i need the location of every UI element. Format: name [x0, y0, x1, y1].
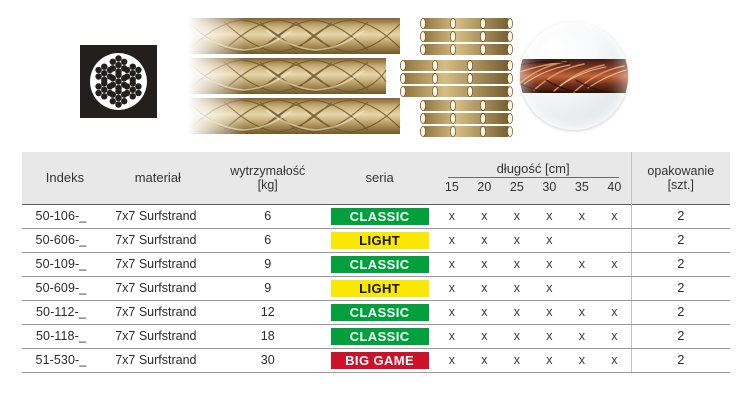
length-mark-30: x — [533, 329, 566, 343]
length-mark-40: x — [598, 257, 631, 271]
header-length-ticks: 15 20 25 30 35 40 — [436, 180, 631, 194]
length-mark-30: x — [533, 233, 566, 247]
cell-seria: CLASSIC — [324, 300, 436, 324]
hero-imagery — [0, 0, 750, 150]
series-badge: CLASSIC — [331, 304, 429, 321]
table-header-row: Indeks materiał wytrzymałość [kg] seria … — [22, 152, 730, 204]
cell-material: 7x7 Surfstrand — [100, 324, 212, 348]
table-row: 50-112-_ 7x7 Surfstrand 12 CLASSIC x x x… — [22, 300, 730, 324]
length-mark-20: x — [468, 305, 501, 319]
product-spec-sheet: Indeks materiał wytrzymałość [kg] seria … — [0, 0, 750, 403]
cell-opakowanie: 2 — [631, 300, 730, 324]
cell-wytrzymalosc: 30 — [212, 348, 324, 372]
length-mark-15: x — [436, 329, 469, 343]
length-mark-40: x — [598, 305, 631, 319]
table-row: 51-530-_ 7x7 Surfstrand 30 BIG GAME x x … — [22, 348, 730, 372]
header-indeks: Indeks — [22, 152, 100, 204]
cell-seria: LIGHT — [324, 228, 436, 252]
table-row: 50-109-_ 7x7 Surfstrand 9 CLASSIC x x x … — [22, 252, 730, 276]
length-mark-30: x — [533, 305, 566, 319]
header-material: materiał — [100, 152, 212, 204]
length-mark-15: x — [436, 305, 469, 319]
cell-indeks: 50-112-_ — [22, 300, 100, 324]
length-mark-30: x — [533, 209, 566, 223]
series-badge: CLASSIC — [331, 328, 429, 345]
table-header: Indeks materiał wytrzymałość [kg] seria … — [22, 152, 730, 204]
length-mark-35: x — [566, 209, 599, 223]
cell-lengths: x x x x — [436, 228, 632, 252]
series-badge: BIG GAME — [331, 352, 429, 369]
length-mark-35: x — [566, 305, 599, 319]
wire-cross-section-7x7-icon — [80, 45, 157, 118]
length-mark-15: x — [436, 281, 469, 295]
table-row: 50-106-_ 7x7 Surfstrand 6 CLASSIC x x x … — [22, 204, 730, 228]
magnified-rope-detail-lens — [520, 22, 628, 130]
length-mark-40: x — [598, 329, 631, 343]
cell-opakowanie: 2 — [631, 204, 730, 228]
cell-indeks: 50-109-_ — [22, 252, 100, 276]
cell-lengths: x x x x x x — [436, 324, 632, 348]
header-length-30: 30 — [533, 180, 566, 194]
length-mark-35: x — [566, 329, 599, 343]
length-mark-15: x — [436, 233, 469, 247]
cell-indeks: 50-106-_ — [22, 204, 100, 228]
length-mark-30: x — [533, 353, 566, 367]
series-badge: LIGHT — [331, 232, 429, 249]
length-mark-25: x — [501, 329, 534, 343]
length-mark-15: x — [436, 209, 469, 223]
length-mark-20: x — [468, 257, 501, 271]
cell-lengths: x x x x x x — [436, 252, 632, 276]
cell-lengths: x x x x x x — [436, 204, 632, 228]
length-mark-40 — [598, 281, 631, 295]
cell-lengths: x x x x x x — [436, 348, 632, 372]
cell-opakowanie: 2 — [631, 252, 730, 276]
table-body: 50-106-_ 7x7 Surfstrand 6 CLASSIC x x x … — [22, 204, 730, 372]
header-dlugosc-rule — [448, 177, 619, 178]
header-dlugosc-title: długość [cm] — [436, 162, 631, 177]
length-mark-30: x — [533, 257, 566, 271]
cell-seria: LIGHT — [324, 276, 436, 300]
length-mark-15: x — [436, 257, 469, 271]
cell-opakowanie: 2 — [631, 324, 730, 348]
length-mark-35 — [566, 281, 599, 295]
header-length-25: 25 — [501, 180, 534, 194]
header-seria: seria — [324, 152, 436, 204]
length-mark-35: x — [566, 257, 599, 271]
length-mark-25: x — [501, 281, 534, 295]
cell-indeks: 51-530-_ — [22, 348, 100, 372]
length-mark-20: x — [468, 329, 501, 343]
header-opakowanie-line1: opakowanie — [632, 164, 730, 178]
length-mark-20: x — [468, 209, 501, 223]
cell-indeks: 50-609-_ — [22, 276, 100, 300]
length-mark-35: x — [566, 353, 599, 367]
header-length-20: 20 — [468, 180, 501, 194]
cell-material: 7x7 Surfstrand — [100, 204, 212, 228]
header-opakowanie: opakowanie [szt.] — [631, 152, 730, 204]
cell-seria: BIG GAME — [324, 348, 436, 372]
header-length-35: 35 — [566, 180, 599, 194]
length-mark-25: x — [501, 209, 534, 223]
braided-steel-rope-illustration — [188, 8, 518, 146]
length-mark-15: x — [436, 353, 469, 367]
cell-seria: CLASSIC — [324, 204, 436, 228]
cell-wytrzymalosc: 9 — [212, 276, 324, 300]
cell-wytrzymalosc: 6 — [212, 228, 324, 252]
cell-lengths: x x x x — [436, 276, 632, 300]
header-wytrzymalosc-line1: wytrzymałość — [212, 164, 324, 178]
cell-wytrzymalosc: 18 — [212, 324, 324, 348]
length-mark-25: x — [501, 305, 534, 319]
header-opakowanie-line2: [szt.] — [632, 178, 730, 192]
length-mark-40: x — [598, 353, 631, 367]
length-mark-25: x — [501, 233, 534, 247]
cell-wytrzymalosc: 9 — [212, 252, 324, 276]
cell-wytrzymalosc: 12 — [212, 300, 324, 324]
length-mark-25: x — [501, 257, 534, 271]
length-mark-20: x — [468, 233, 501, 247]
specification-table: Indeks materiał wytrzymałość [kg] seria … — [22, 152, 730, 373]
specification-table-wrapper: Indeks materiał wytrzymałość [kg] seria … — [22, 152, 730, 373]
cell-indeks: 50-118-_ — [22, 324, 100, 348]
table-row: 50-118-_ 7x7 Surfstrand 18 CLASSIC x x x… — [22, 324, 730, 348]
cell-indeks: 50-606-_ — [22, 228, 100, 252]
length-mark-30: x — [533, 281, 566, 295]
header-length-15: 15 — [436, 180, 469, 194]
length-mark-40 — [598, 233, 631, 247]
length-mark-20: x — [468, 353, 501, 367]
header-length-40: 40 — [598, 180, 631, 194]
cell-opakowanie: 2 — [631, 348, 730, 372]
length-mark-35 — [566, 233, 599, 247]
cell-opakowanie: 2 — [631, 228, 730, 252]
cell-opakowanie: 2 — [631, 276, 730, 300]
length-mark-25: x — [501, 353, 534, 367]
cell-material: 7x7 Surfstrand — [100, 348, 212, 372]
header-wytrzymalosc: wytrzymałość [kg] — [212, 152, 324, 204]
cell-material: 7x7 Surfstrand — [100, 228, 212, 252]
table-row: 50-606-_ 7x7 Surfstrand 6 LIGHT x x x x — [22, 228, 730, 252]
length-mark-20: x — [468, 281, 501, 295]
header-dlugosc-group: długość [cm] 15 20 25 30 35 40 — [436, 152, 632, 204]
series-badge: CLASSIC — [331, 256, 429, 273]
cell-material: 7x7 Surfstrand — [100, 276, 212, 300]
cell-material: 7x7 Surfstrand — [100, 300, 212, 324]
cell-seria: CLASSIC — [324, 252, 436, 276]
cell-wytrzymalosc: 6 — [212, 204, 324, 228]
length-mark-40: x — [598, 209, 631, 223]
series-badge: CLASSIC — [331, 208, 429, 225]
series-badge: LIGHT — [331, 280, 429, 297]
cell-material: 7x7 Surfstrand — [100, 252, 212, 276]
header-wytrzymalosc-line2: [kg] — [212, 178, 324, 192]
cell-seria: CLASSIC — [324, 324, 436, 348]
cell-lengths: x x x x x x — [436, 300, 632, 324]
table-row: 50-609-_ 7x7 Surfstrand 9 LIGHT x x x x — [22, 276, 730, 300]
